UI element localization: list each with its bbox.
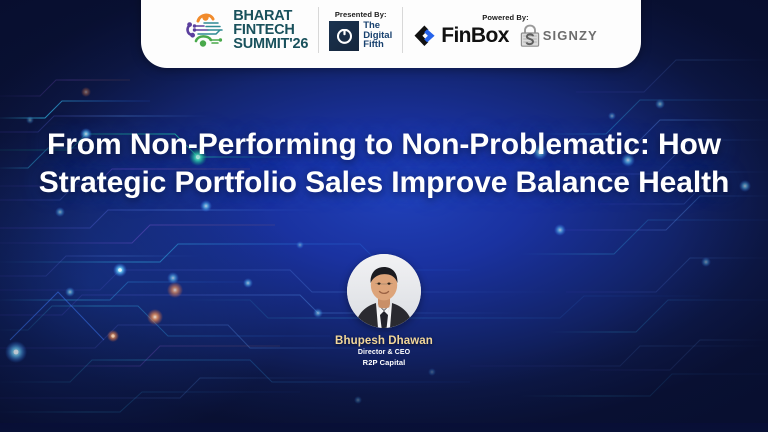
finbox-logo: FinBox	[413, 24, 509, 48]
presentation-slide: BHARAT FINTECH SUMMIT'26 Presented By:	[0, 0, 768, 432]
finbox-chevron-icon	[413, 24, 437, 48]
presented-by-label: Presented By:	[335, 10, 387, 19]
logo-divider-1	[318, 7, 319, 53]
power-button-icon	[329, 21, 359, 51]
signzy-padlock-icon	[519, 24, 541, 48]
speaker-organization: R2P Capital	[363, 358, 406, 367]
event-wordmark: BHARAT FINTECH SUMMIT'26	[233, 9, 308, 52]
powered-by-label: Powered By:	[482, 13, 529, 22]
speaker-card: Bhupesh Dhawan Director & CEO R2P Capita…	[0, 254, 768, 367]
signzy-wordmark: SIGNZY	[543, 29, 598, 42]
finbox-wordmark: FinBox	[441, 25, 509, 46]
signzy-logo: SIGNZY	[519, 24, 598, 48]
speaker-name: Bhupesh Dhawan	[335, 335, 433, 347]
bottom-band	[0, 423, 768, 432]
event-logo-line-1: BHARAT	[233, 9, 308, 23]
the-digital-fifth-logo: The Digital Fifth	[329, 21, 392, 51]
session-title: From Non-Performing to Non-Problematic: …	[36, 126, 732, 202]
event-logo-line-3: SUMMIT'26	[233, 37, 308, 51]
logo-divider-2	[402, 7, 403, 53]
event-logo: BHARAT FINTECH SUMMIT'26	[184, 9, 308, 52]
bharat-fintech-summit-circuit-mark	[184, 9, 230, 51]
sponsor-header-banner: BHARAT FINTECH SUMMIT'26 Presented By:	[141, 0, 641, 68]
powered-by-block: Powered By: FinBox	[413, 13, 598, 48]
presented-by-block: Presented By: The Digital Fifth	[329, 10, 392, 51]
tdf-line-3: Fifth	[363, 40, 392, 50]
the-digital-fifth-wordmark: The Digital Fifth	[363, 21, 392, 50]
event-logo-line-2: FINTECH	[233, 23, 308, 37]
speaker-role: Director & CEO	[358, 349, 410, 356]
speaker-avatar	[347, 254, 421, 328]
